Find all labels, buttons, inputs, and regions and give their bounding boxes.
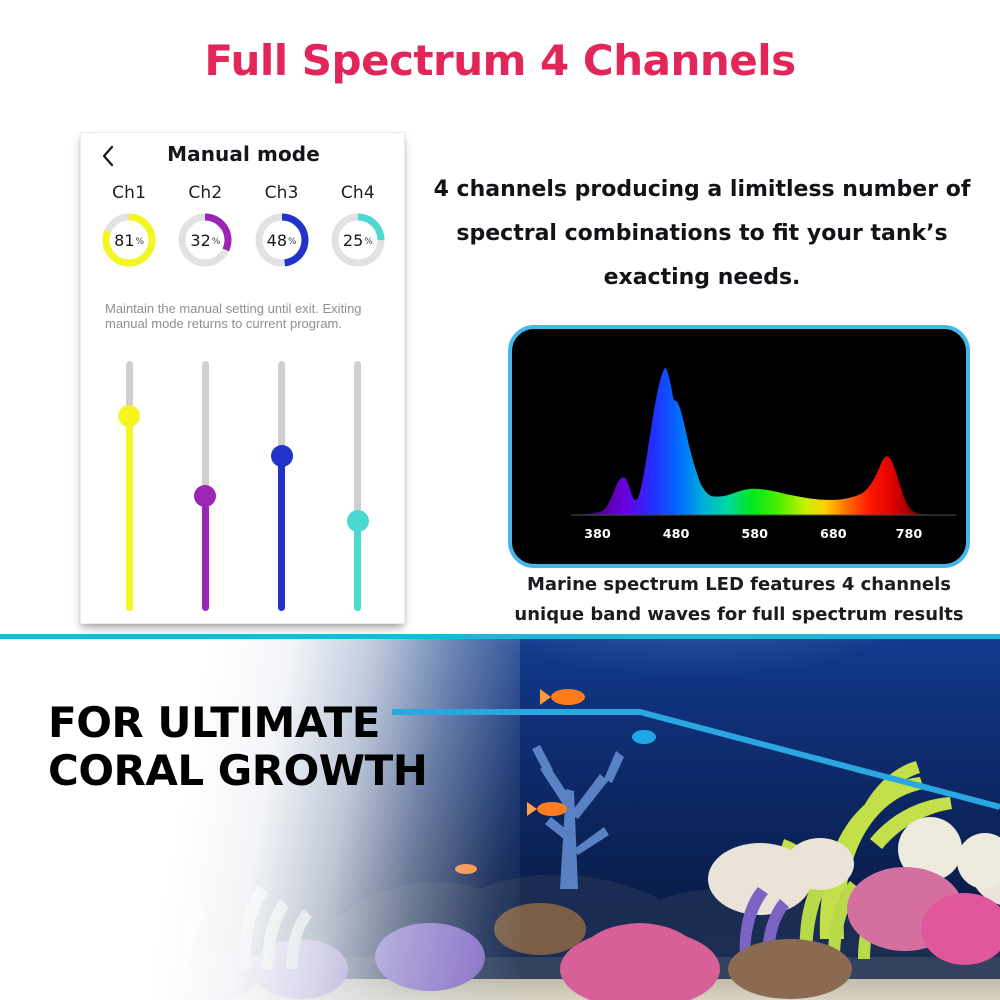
marketing-paragraph: 4 channels producing a limitless number … [412, 168, 992, 300]
channel-dial-ch3[interactable]: Ch3 48% [248, 183, 316, 269]
fish-blue-1 [632, 730, 656, 744]
headline-line-2: CORAL GROWTH [48, 747, 518, 795]
tick-label-480: 480 [663, 526, 690, 541]
tick-label-680: 680 [820, 526, 847, 541]
channel-label: Ch3 [265, 183, 299, 203]
channel-dial-ch4[interactable]: Ch4 25% [324, 183, 392, 269]
coral-tan-mound [728, 939, 852, 999]
spectrum-caption: Marine spectrum LED features 4 channels … [500, 570, 978, 630]
tick-label-580: 580 [741, 526, 768, 541]
dial-percent-sign: % [288, 237, 297, 247]
dial-ring-ch4[interactable]: 25% [329, 211, 387, 269]
slider-ch2[interactable] [171, 361, 239, 611]
headline-line-1: FOR ULTIMATE [48, 699, 518, 747]
channel-dial-ch2[interactable]: Ch2 32% [171, 183, 239, 269]
slider-ch1[interactable] [95, 361, 163, 611]
dial-number: 32 [190, 231, 210, 250]
paragraph-line-2: spectral combinations to fit your tank’s [412, 212, 992, 256]
page-title: Full Spectrum 4 Channels [0, 36, 1000, 85]
channel-label: Ch2 [188, 183, 222, 203]
dial-number: 25 [343, 231, 363, 250]
dial-number: 81 [114, 231, 134, 250]
fish-orange-3 [455, 864, 477, 874]
channel-label: Ch1 [112, 183, 146, 203]
spectrum-curve [571, 368, 956, 515]
spectrum-chart: 380 480 580 680 780 [508, 325, 970, 568]
dial-ring-ch3[interactable]: 48% [253, 211, 311, 269]
dial-percent-sign: % [364, 237, 373, 247]
slider-thumb[interactable] [194, 485, 216, 507]
slider-fill [202, 496, 209, 611]
caption-line-2: unique band waves for full spectrum resu… [500, 600, 978, 630]
slider-ch4[interactable] [324, 361, 392, 611]
dial-value-ch3: 48% [253, 211, 311, 269]
slider-fill [278, 456, 285, 611]
slider-thumb[interactable] [347, 510, 369, 532]
paragraph-line-3: exacting needs. [412, 256, 992, 300]
slider-fill [126, 416, 133, 611]
coral-reef-image [0, 639, 1000, 1000]
panel-header: Manual mode [81, 133, 404, 181]
tick-label-380: 380 [584, 526, 611, 541]
coral-green-mound [10, 939, 130, 999]
dial-percent-sign: % [136, 237, 145, 247]
manual-mode-panel: Manual mode Ch1 81% Ch2 [80, 132, 405, 624]
panel-title: Manual mode [81, 142, 405, 166]
tick-label-780: 780 [896, 526, 923, 541]
channel-dial-group: Ch1 81% Ch2 [81, 183, 405, 313]
dial-number: 48 [267, 231, 287, 250]
slider-thumb[interactable] [271, 445, 293, 467]
slider-ch3[interactable] [248, 361, 316, 611]
dial-value-ch2: 32% [176, 211, 234, 269]
caption-line-1: Marine spectrum LED features 4 channels [500, 570, 978, 600]
spectrum-x-tick-labels: 380 480 580 680 780 [584, 526, 922, 541]
dial-ring-ch1[interactable]: 81% [100, 211, 158, 269]
channel-slider-group [81, 361, 405, 621]
channel-label: Ch4 [341, 183, 375, 203]
hero-section: FOR ULTIMATE CORAL GROWTH [0, 639, 1000, 1000]
dial-ring-ch2[interactable]: 32% [176, 211, 234, 269]
channel-dial-ch1[interactable]: Ch1 81% [95, 183, 163, 269]
manual-mode-instructions: Maintain the manual setting until exit. … [105, 301, 387, 331]
dial-percent-sign: % [212, 237, 221, 247]
spectrum-plot-area: 380 480 580 680 780 [512, 329, 966, 564]
slider-fill [354, 521, 361, 611]
hero-headline: FOR ULTIMATE CORAL GROWTH [48, 699, 518, 795]
paragraph-line-1: 4 channels producing a limitless number … [412, 168, 992, 212]
dial-value-ch4: 25% [329, 211, 387, 269]
infographic-page: Full Spectrum 4 Channels Manual mode Ch1 [0, 0, 1000, 1000]
slider-thumb[interactable] [118, 405, 140, 427]
dial-value-ch1: 81% [100, 211, 158, 269]
coral-brown-plate [494, 903, 586, 955]
